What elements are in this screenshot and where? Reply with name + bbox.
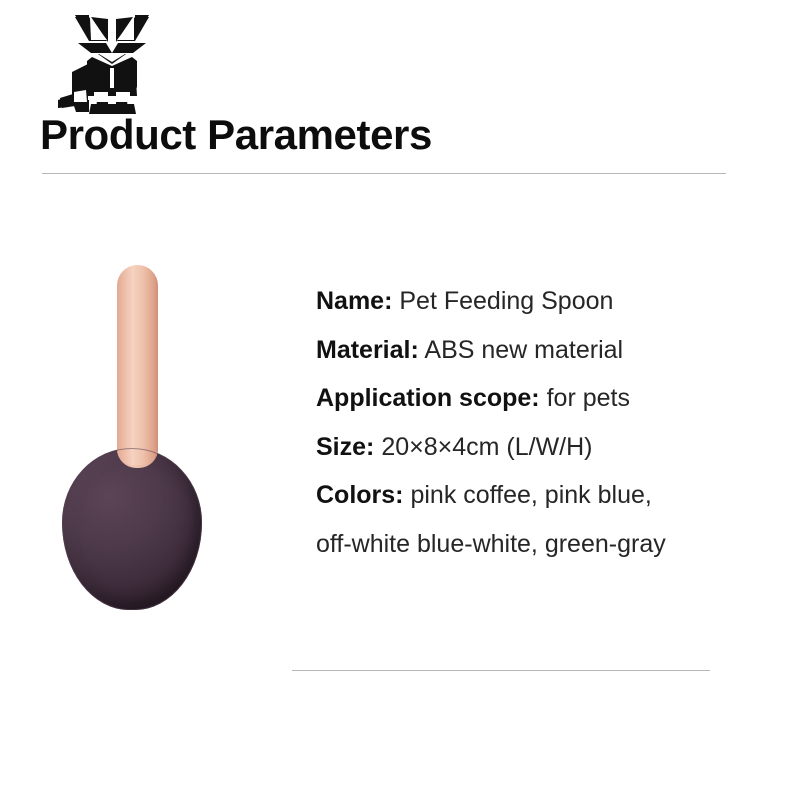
spec-value-size: 20×8×4cm (L/W/H) [381, 433, 592, 461]
spec-list: Name: Pet Feeding Spoon Material: ABS ne… [316, 277, 776, 568]
spec-value-colors: pink coffee, pink blue, [410, 481, 651, 509]
geometric-cat-logo-icon [58, 8, 166, 120]
spec-row-name: Name: Pet Feeding Spoon [316, 277, 776, 326]
spec-label-colors: Colors: [316, 481, 404, 509]
spoon-bowl-rim [62, 448, 202, 610]
spec-label-size: Size: [316, 433, 374, 461]
page-title: Product Parameters [40, 110, 432, 160]
spec-row-material: Material: ABS new material [316, 326, 776, 375]
spec-label-name: Name: [316, 287, 392, 315]
spec-value-application-scope: for pets [547, 384, 630, 412]
divider-bottom [292, 670, 710, 671]
product-parameters-page: Product Parameters Name: Pet Feeding Spo… [0, 0, 800, 800]
divider-top [42, 173, 726, 174]
spec-row-size: Size: 20×8×4cm (L/W/H) [316, 423, 776, 472]
spec-label-application-scope: Application scope: [316, 384, 540, 412]
spoon-handle [117, 265, 158, 465]
spec-row-application-scope: Application scope: for pets [316, 374, 776, 423]
product-image-pet-feeding-spoon [55, 255, 215, 625]
spec-value-material: ABS new material [424, 336, 623, 364]
spec-value-name: Pet Feeding Spoon [399, 287, 613, 315]
spec-label-material: Material: [316, 336, 419, 364]
spec-row-colors: Colors: pink coffee, pink blue, [316, 471, 776, 520]
spec-row-colors-continued: off-white blue-white, green-gray [316, 520, 776, 569]
spec-value-colors-continued: off-white blue-white, green-gray [316, 530, 666, 558]
